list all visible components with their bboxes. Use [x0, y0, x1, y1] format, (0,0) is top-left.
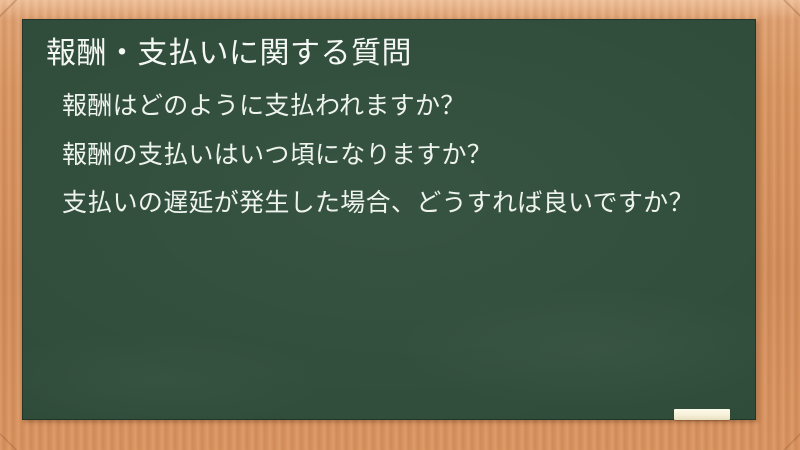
question-list: 報酬はどのように支払われますか？ 報酬の支払いはいつ頃になりますか？ 支払いの遅…	[46, 88, 732, 221]
frame-top-highlight	[0, 0, 800, 20]
list-item: 支払いの遅延が発生した場合、どうすれば良いですか？	[62, 185, 722, 221]
chalkboard-wooden-frame: 報酬・支払いに関する質問 報酬はどのように支払われますか？ 報酬の支払いはいつ頃…	[0, 0, 800, 450]
chalk-stick	[674, 409, 730, 420]
list-item: 報酬はどのように支払われますか？	[62, 88, 722, 124]
page-title: 報酬・支払いに関する質問	[46, 33, 732, 74]
list-item: 報酬の支払いはいつ頃になりますか？	[62, 137, 722, 173]
chalkboard-surface: 報酬・支払いに関する質問 報酬はどのように支払われますか？ 報酬の支払いはいつ頃…	[22, 19, 756, 420]
chalkboard-content: 報酬・支払いに関する質問 報酬はどのように支払われますか？ 報酬の支払いはいつ頃…	[22, 19, 756, 221]
